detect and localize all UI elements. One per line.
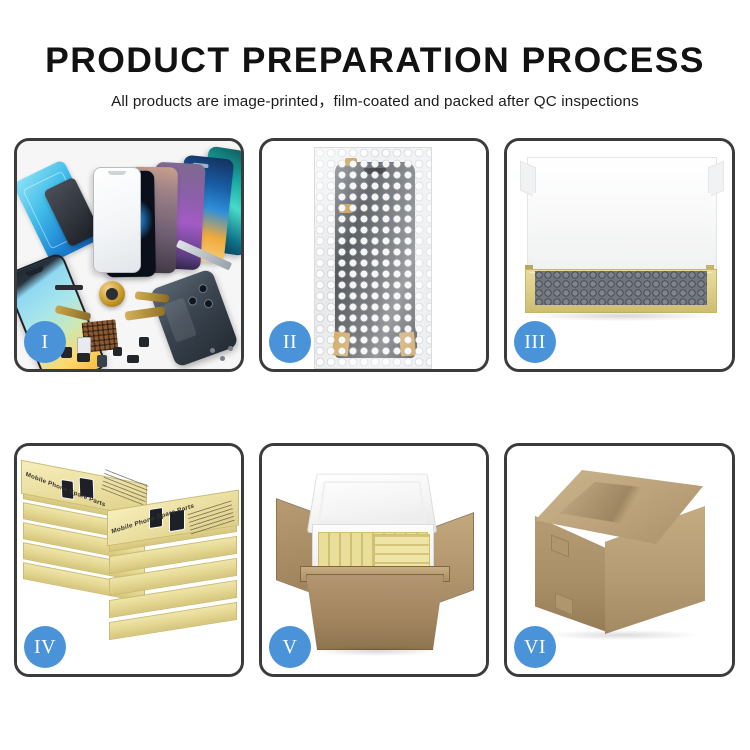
- small-part-d: [113, 347, 122, 356]
- page-title: PRODUCT PREPARATION PROCESS: [0, 42, 750, 80]
- step-badge-5: V: [269, 626, 311, 668]
- carton-front-panel: [306, 574, 444, 650]
- step-badge-1: I: [24, 321, 66, 363]
- box-shadow: [531, 311, 713, 321]
- carton-shadow: [312, 646, 440, 656]
- process-step-1: I: [14, 138, 244, 372]
- earpiece-mesh: [55, 285, 83, 290]
- process-step-6: VI: [504, 443, 735, 677]
- process-step-4: Mobile Phone Spare Parts Mobile Phone Sp…: [14, 443, 244, 677]
- carton-shadow: [547, 630, 697, 640]
- page-subtitle: All products are image-printed，film-coat…: [0, 89, 750, 111]
- bubble-wrap-bag: [314, 147, 432, 369]
- phone-back-housing: [149, 268, 239, 368]
- screw-2: [210, 348, 215, 353]
- small-part-g: [139, 337, 149, 347]
- camera-lens-1: [197, 283, 209, 295]
- screw-3: [228, 346, 233, 351]
- product-preparation-infographic: PRODUCT PREPARATION PROCESS All products…: [0, 0, 750, 750]
- small-part-c: [97, 355, 107, 367]
- step-badge-6: VI: [514, 626, 556, 668]
- bubble-wrap-fill: [535, 271, 707, 305]
- step-badge-3: III: [514, 321, 556, 363]
- tempered-glass-protector: [93, 167, 141, 273]
- small-part-e: [127, 355, 139, 363]
- step-badge-2: II: [269, 321, 311, 363]
- process-step-5: V: [259, 443, 489, 677]
- bag-sheen: [315, 148, 431, 368]
- camera-lens-3: [187, 295, 199, 307]
- header: PRODUCT PREPARATION PROCESS All products…: [0, 0, 750, 111]
- foam-liner: [533, 193, 711, 273]
- step-badge-4: IV: [24, 626, 66, 668]
- process-step-grid: I II: [14, 138, 736, 678]
- screw-1: [220, 356, 225, 361]
- speaker-module: [99, 281, 125, 307]
- process-step-2: II: [259, 138, 489, 372]
- process-step-3: III: [504, 138, 735, 372]
- small-part-b: [77, 353, 90, 362]
- camera-lens-2: [203, 298, 215, 310]
